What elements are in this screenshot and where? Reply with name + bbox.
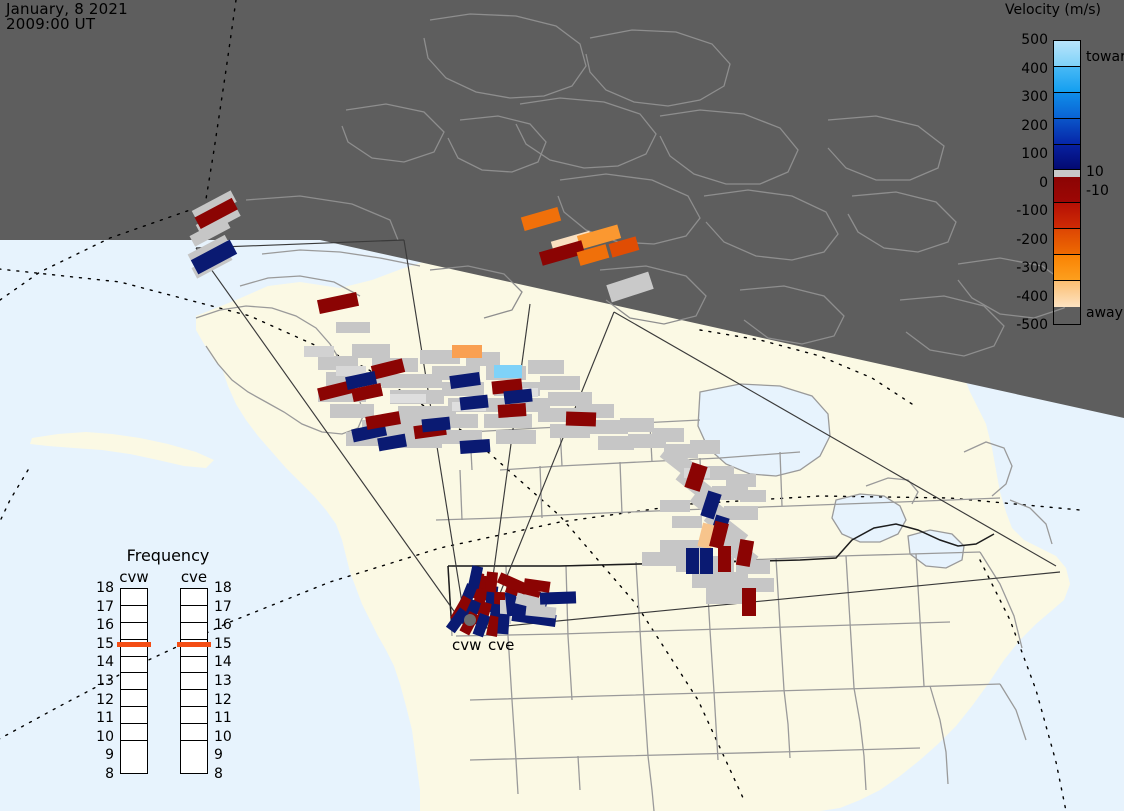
frequency-tick-cvw-15: 15 [94, 637, 114, 651]
velocity-colorbar-swatches [1053, 40, 1081, 325]
frequency-tick-cve-9: 9 [214, 748, 234, 762]
frequency-cell [121, 589, 147, 606]
frequency-tick-cve-12: 12 [214, 693, 234, 707]
frequency-tick-cve-16: 16 [214, 618, 234, 632]
frequency-gauge-cve [180, 588, 208, 774]
frequency-tick-cvw-10: 10 [94, 730, 114, 744]
velocity-swatch-1 [1054, 67, 1080, 93]
velocity-away-label: away [1086, 306, 1123, 320]
frequency-cell [121, 707, 147, 724]
frequency-cell [121, 690, 147, 707]
radar-site-label-cve: cve [488, 636, 514, 654]
frequency-cell [181, 606, 207, 623]
velocity-tick-400: 400 [986, 62, 1048, 76]
frequency-tick-cvw-11: 11 [94, 711, 114, 725]
frequency-tick-cve-14: 14 [214, 655, 234, 669]
frequency-tick-cvw-14: 14 [94, 655, 114, 669]
frequency-cell [121, 623, 147, 640]
frequency-legend: Frequency cvw18171615141312111098cve1817… [88, 546, 248, 786]
velocity-tick--300: -300 [986, 261, 1048, 275]
frequency-tick-cve-11: 11 [214, 711, 234, 725]
frequency-cell [181, 589, 207, 606]
frequency-gauge-cvw [120, 588, 148, 774]
velocity-swatch-5 [1054, 177, 1080, 203]
frequency-legend-title: Frequency [88, 546, 248, 565]
velocity-swatch-9 [1054, 281, 1080, 307]
frequency-tick-cvw-17: 17 [94, 600, 114, 614]
velocity-tick-500: 500 [986, 33, 1048, 47]
frequency-cell [181, 657, 207, 674]
frequency-tick-cvw-12: 12 [94, 693, 114, 707]
frequency-tick-cvw-8: 8 [94, 767, 114, 781]
velocity-colorbar: Velocity (m/s) 5004003002001000-100-200-… [978, 2, 1124, 332]
velocity-tick--500: -500 [986, 318, 1048, 332]
frequency-tick-cvw-16: 16 [94, 618, 114, 632]
radar-site-label-cvw: cvw [452, 636, 481, 654]
superdarn-map-view: January, 8 2021 2009:00 UT Velocity (m/s… [0, 0, 1124, 811]
velocity-tick-0: 0 [986, 176, 1048, 190]
velocity-tick--400: -400 [986, 290, 1048, 304]
frequency-gauge-name-cvw: cvw [107, 568, 161, 586]
frequency-gauge-name-cve: cve [167, 568, 221, 586]
velocity-swatch-6 [1054, 203, 1080, 229]
frequency-tick-cve-8: 8 [214, 767, 234, 781]
velocity-tick-100: 100 [986, 147, 1048, 161]
timestamp: January, 8 2021 2009:00 UT [6, 2, 128, 32]
frequency-tick-cve-18: 18 [214, 581, 234, 595]
frequency-tick-cvw-13: 13 [94, 674, 114, 688]
frequency-tick-cve-15: 15 [214, 637, 234, 651]
velocity-swatch-0 [1054, 41, 1080, 67]
velocity-swatch-7 [1054, 229, 1080, 255]
velocity-toward-label: toward [1086, 50, 1124, 64]
frequency-cell [181, 623, 207, 640]
frequency-cell [121, 657, 147, 674]
frequency-cell [181, 741, 207, 758]
velocity-tick-200: 200 [986, 119, 1048, 133]
frequency-tick-cvw-9: 9 [94, 748, 114, 762]
frequency-tick-cve-17: 17 [214, 600, 234, 614]
frequency-cell [181, 690, 207, 707]
velocity-negative-threshold-label: -10 [1086, 184, 1109, 198]
frequency-tick-cve-10: 10 [214, 730, 234, 744]
velocity-tick--100: -100 [986, 204, 1048, 218]
velocity-swatch-4 [1054, 145, 1080, 171]
frequency-indicator-cve [177, 642, 211, 647]
frequency-indicator-cvw [117, 642, 151, 647]
velocity-colorbar-ticks: 5004003002001000-100-200-300-400-500 [978, 2, 1048, 332]
velocity-swatch-3 [1054, 119, 1080, 145]
frequency-cell [181, 724, 207, 741]
velocity-swatch-2 [1054, 93, 1080, 119]
frequency-cell [121, 673, 147, 690]
frequency-cell [121, 724, 147, 741]
velocity-tick--200: -200 [986, 233, 1048, 247]
radar-site-marker [464, 614, 476, 626]
velocity-positive-threshold-label: 10 [1086, 165, 1104, 179]
timestamp-time: 2009:00 UT [6, 17, 128, 32]
frequency-cell [181, 673, 207, 690]
frequency-cell [181, 707, 207, 724]
velocity-swatch-8 [1054, 255, 1080, 281]
velocity-zero-band [1054, 170, 1080, 177]
velocity-tick-300: 300 [986, 90, 1048, 104]
frequency-tick-cvw-18: 18 [94, 581, 114, 595]
frequency-cell [121, 741, 147, 758]
frequency-tick-cve-13: 13 [214, 674, 234, 688]
frequency-cell [121, 606, 147, 623]
